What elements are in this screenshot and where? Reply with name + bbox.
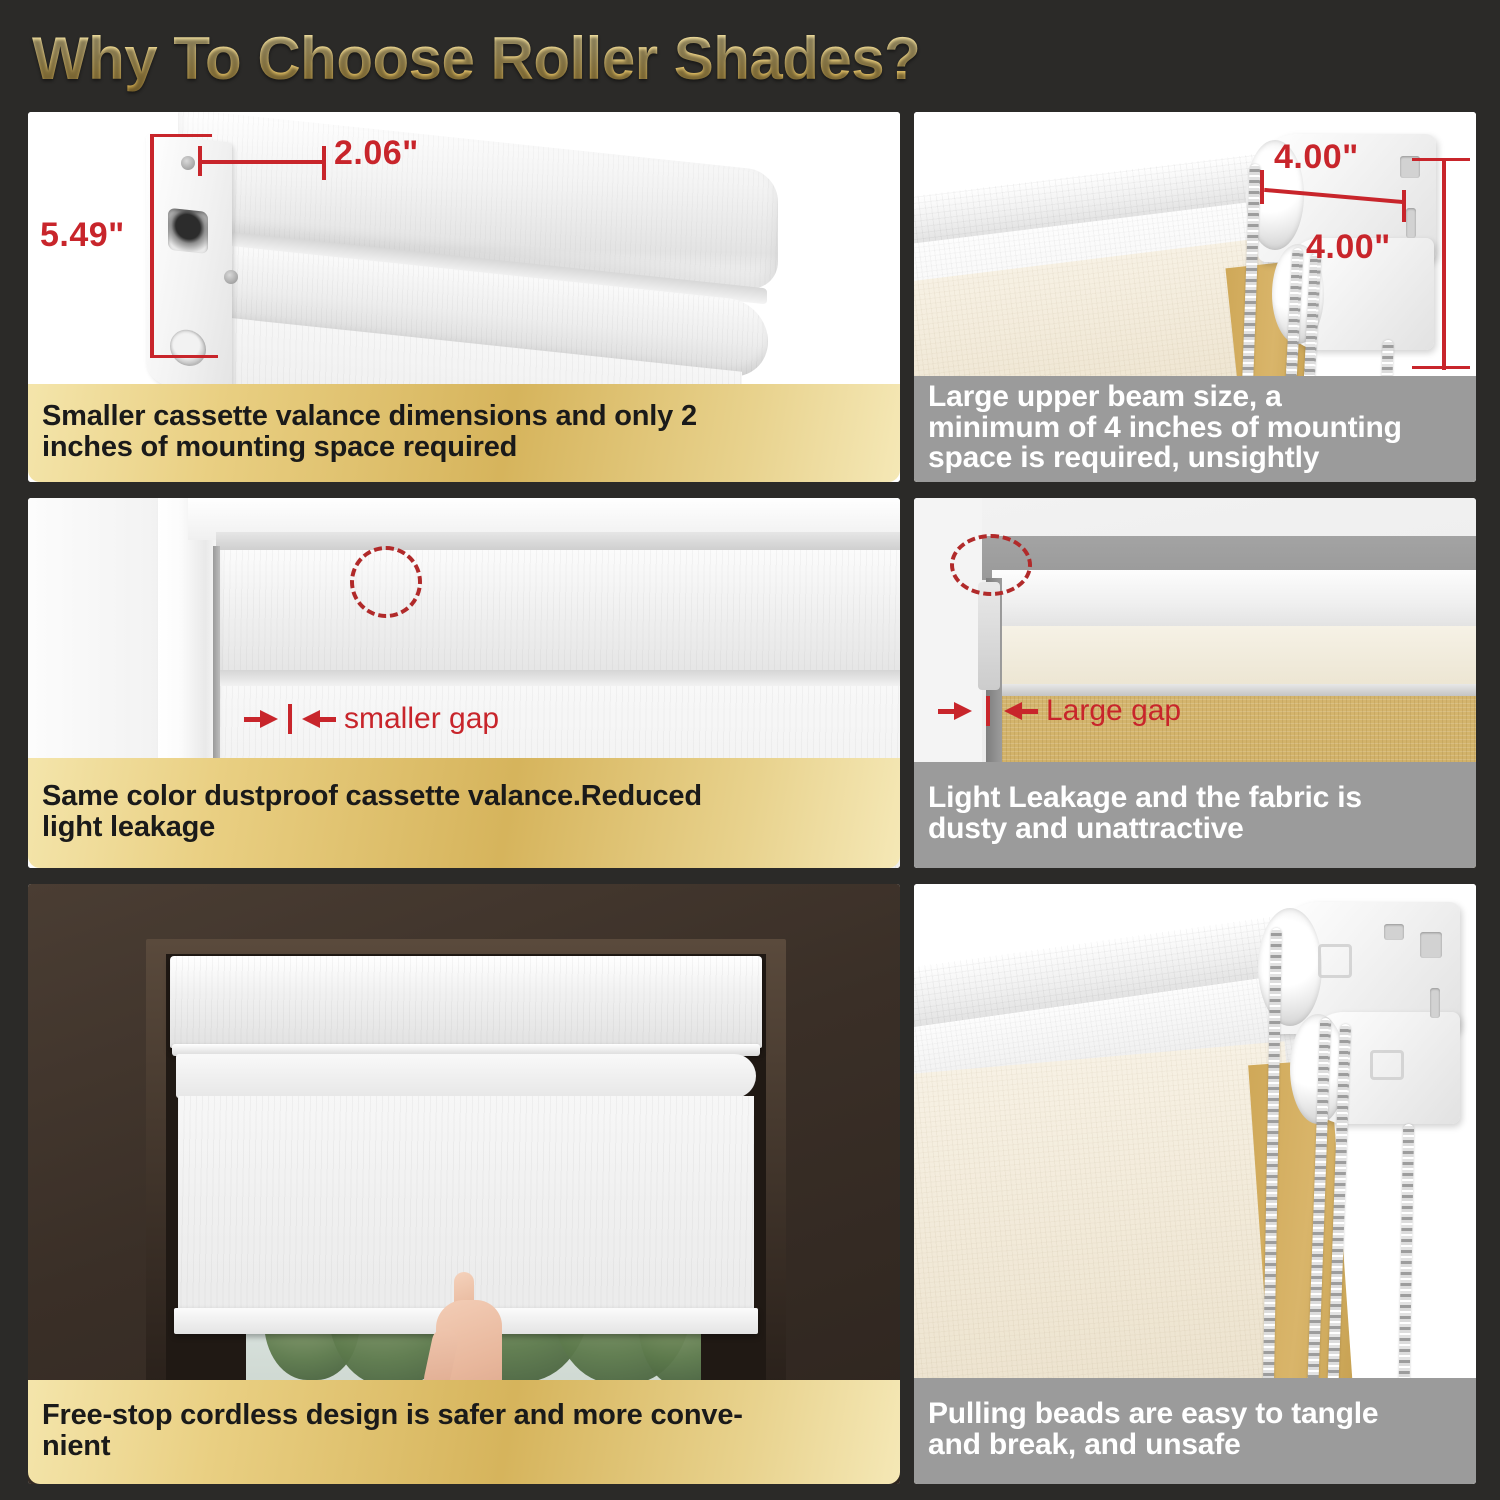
width-dimension-line [200, 160, 326, 164]
arrow-stem-right-icon [938, 709, 954, 714]
large-gap-annotation: Large gap [938, 694, 1181, 728]
highlight-circle-icon [950, 534, 1032, 596]
caption-line-2: inches of mounting space required [42, 431, 517, 463]
panel-pro-cordless-design: Free-stop cordless design is safer and m… [28, 884, 900, 1484]
roller-tube-white [992, 570, 1476, 632]
arrow-stem-right-icon [244, 717, 260, 722]
photo-roller-shade-beam: 4.00" 4.00" Large upper beam size, a min… [914, 112, 1476, 482]
caption-con-large-beam: Large upper beam size, a minimum of 4 in… [914, 376, 1476, 482]
caption-text: Pulling beads are easy to tangle and bre… [928, 1399, 1378, 1460]
width-dimension-label: 2.06" [334, 134, 419, 173]
caption-line-2: and break, and unsafe [928, 1428, 1241, 1461]
panel-pro-cassette-dimensions: 2.06" 5.49" Smaller cassette valance dim… [28, 112, 900, 482]
bracket-drum-upper [1258, 908, 1322, 1026]
caption-line-2: dusty and unattractive [928, 812, 1244, 845]
caption-text: Large upper beam size, a minimum of 4 in… [928, 382, 1402, 474]
arrow-stem-left-icon [320, 717, 336, 722]
caption-con-pulling-beads: Pulling beads are easy to tangle and bre… [914, 1378, 1476, 1484]
caption-line-1: Free-stop cordless design is safer and m… [42, 1399, 743, 1431]
end-cap-screw-top [181, 156, 195, 170]
smaller-gap-annotation: smaller gap [244, 702, 499, 736]
bracket-slot-b [1420, 932, 1442, 958]
caption-text: Free-stop cordless design is safer and m… [42, 1400, 743, 1461]
smaller-gap-label: smaller gap [344, 702, 499, 736]
height-dimension-line [150, 136, 154, 358]
caption-pro-cassette-dimensions: Smaller cassette valance dimensions and … [28, 384, 900, 482]
beam-height-tick-top [1412, 158, 1470, 161]
height-dimension-label: 5.49" [40, 216, 125, 255]
caption-line-1: Light Leakage and the fabric is [928, 781, 1362, 814]
panel-con-light-leakage: Large gap Light Leakage and the fabric i… [914, 498, 1476, 868]
caption-con-light-leakage: Light Leakage and the fabric is dusty an… [914, 762, 1476, 868]
page-title: Why To Choose Roller Shades? [32, 14, 1472, 102]
highlight-circle-icon [350, 546, 422, 618]
width-dimension-tick-right [322, 146, 326, 180]
comparison-grid: 2.06" 5.49" Smaller cassette valance dim… [28, 112, 1476, 1484]
valance-end-cap [146, 133, 232, 392]
caption-line-2: light leakage [42, 811, 215, 843]
gap-tick-icon [986, 696, 990, 726]
arrow-left-icon [302, 710, 320, 728]
bracket-slot-c [1430, 988, 1440, 1018]
beam-width-tick-left [1260, 170, 1264, 204]
roller-tube [176, 1054, 756, 1098]
arrow-stem-left-icon [1022, 709, 1038, 714]
cassette-valance [170, 956, 762, 1048]
bracket-slot-mid [1406, 208, 1416, 238]
beam-height-dimension-line [1442, 160, 1446, 370]
beam-width-tick-right [1402, 190, 1406, 222]
cassette-valance-edge [216, 532, 900, 550]
caption-line-1: Pulling beads are easy to tangle [928, 1397, 1378, 1430]
exposed-bracket-hardware [978, 582, 1000, 690]
caption-text: Light Leakage and the fabric is dusty an… [928, 783, 1362, 844]
width-dimension-tick-left [198, 146, 202, 176]
page-title-text: Why To Choose Roller Shades? [32, 24, 920, 93]
panel-pro-dustproof-valance: smaller gap Same color dustproof cassett… [28, 498, 900, 868]
bracket-slot-a [1384, 924, 1404, 940]
end-cap-screw-bottom [224, 270, 238, 284]
roller-shade-assembly [170, 956, 762, 1256]
photo-roller-shade-beads: Pulling beads are easy to tangle and bre… [914, 884, 1476, 1484]
shade-mid-rail [218, 670, 900, 686]
gap-tick-icon [288, 704, 292, 734]
beam-height-tick-bottom [1412, 366, 1470, 369]
caption-line-3: space is required, unsightly [928, 441, 1319, 474]
arrow-left-icon [1004, 702, 1022, 720]
bracket-up-arrow-icon [1318, 944, 1352, 978]
arrow-right-icon [260, 710, 278, 728]
height-dimension-tick-bottom [150, 355, 218, 358]
beam-width-label: 4.00" [1274, 138, 1359, 177]
caption-line-1: Smaller cassette valance dimensions and … [42, 400, 697, 432]
caption-pro-dustproof-valance: Same color dustproof cassette valance.Re… [28, 758, 900, 868]
panel-con-pulling-beads: Pulling beads are easy to tangle and bre… [914, 884, 1476, 1484]
panel-con-large-beam: 4.00" 4.00" Large upper beam size, a min… [914, 112, 1476, 482]
shade-upper-fabric [218, 546, 900, 674]
photo-cassette-valance: 2.06" 5.49" Smaller cassette valance dim… [28, 112, 900, 482]
height-dimension-tick-top [150, 134, 212, 137]
caption-pro-cordless-design: Free-stop cordless design is safer and m… [28, 1380, 900, 1484]
caption-text: Smaller cassette valance dimensions and … [42, 401, 697, 462]
beam-height-label: 4.00" [1306, 228, 1391, 267]
caption-line-1: Large upper beam size, a [928, 380, 1282, 413]
cream-fabric-strip [998, 626, 1476, 688]
caption-line-2: nient [42, 1430, 110, 1462]
photo-room-window-scene: Free-stop cordless design is safer and m… [28, 884, 900, 1484]
photo-window-small-gap: smaller gap Same color dustproof cassett… [28, 498, 900, 868]
large-gap-label: Large gap [1046, 694, 1181, 728]
photo-window-large-gap: Large gap Light Leakage and the fabric i… [914, 498, 1476, 868]
arrow-right-icon [954, 702, 972, 720]
bracket-down-arrow-icon [1370, 1050, 1404, 1080]
caption-line-2: minimum of 4 inches of mounting [928, 411, 1402, 444]
caption-text: Same color dustproof cassette valance.Re… [42, 781, 702, 842]
caption-line-1: Same color dustproof cassette valance.Re… [42, 780, 702, 812]
infographic-page: Why To Choose Roller Shades? 2.06" [0, 0, 1500, 1500]
